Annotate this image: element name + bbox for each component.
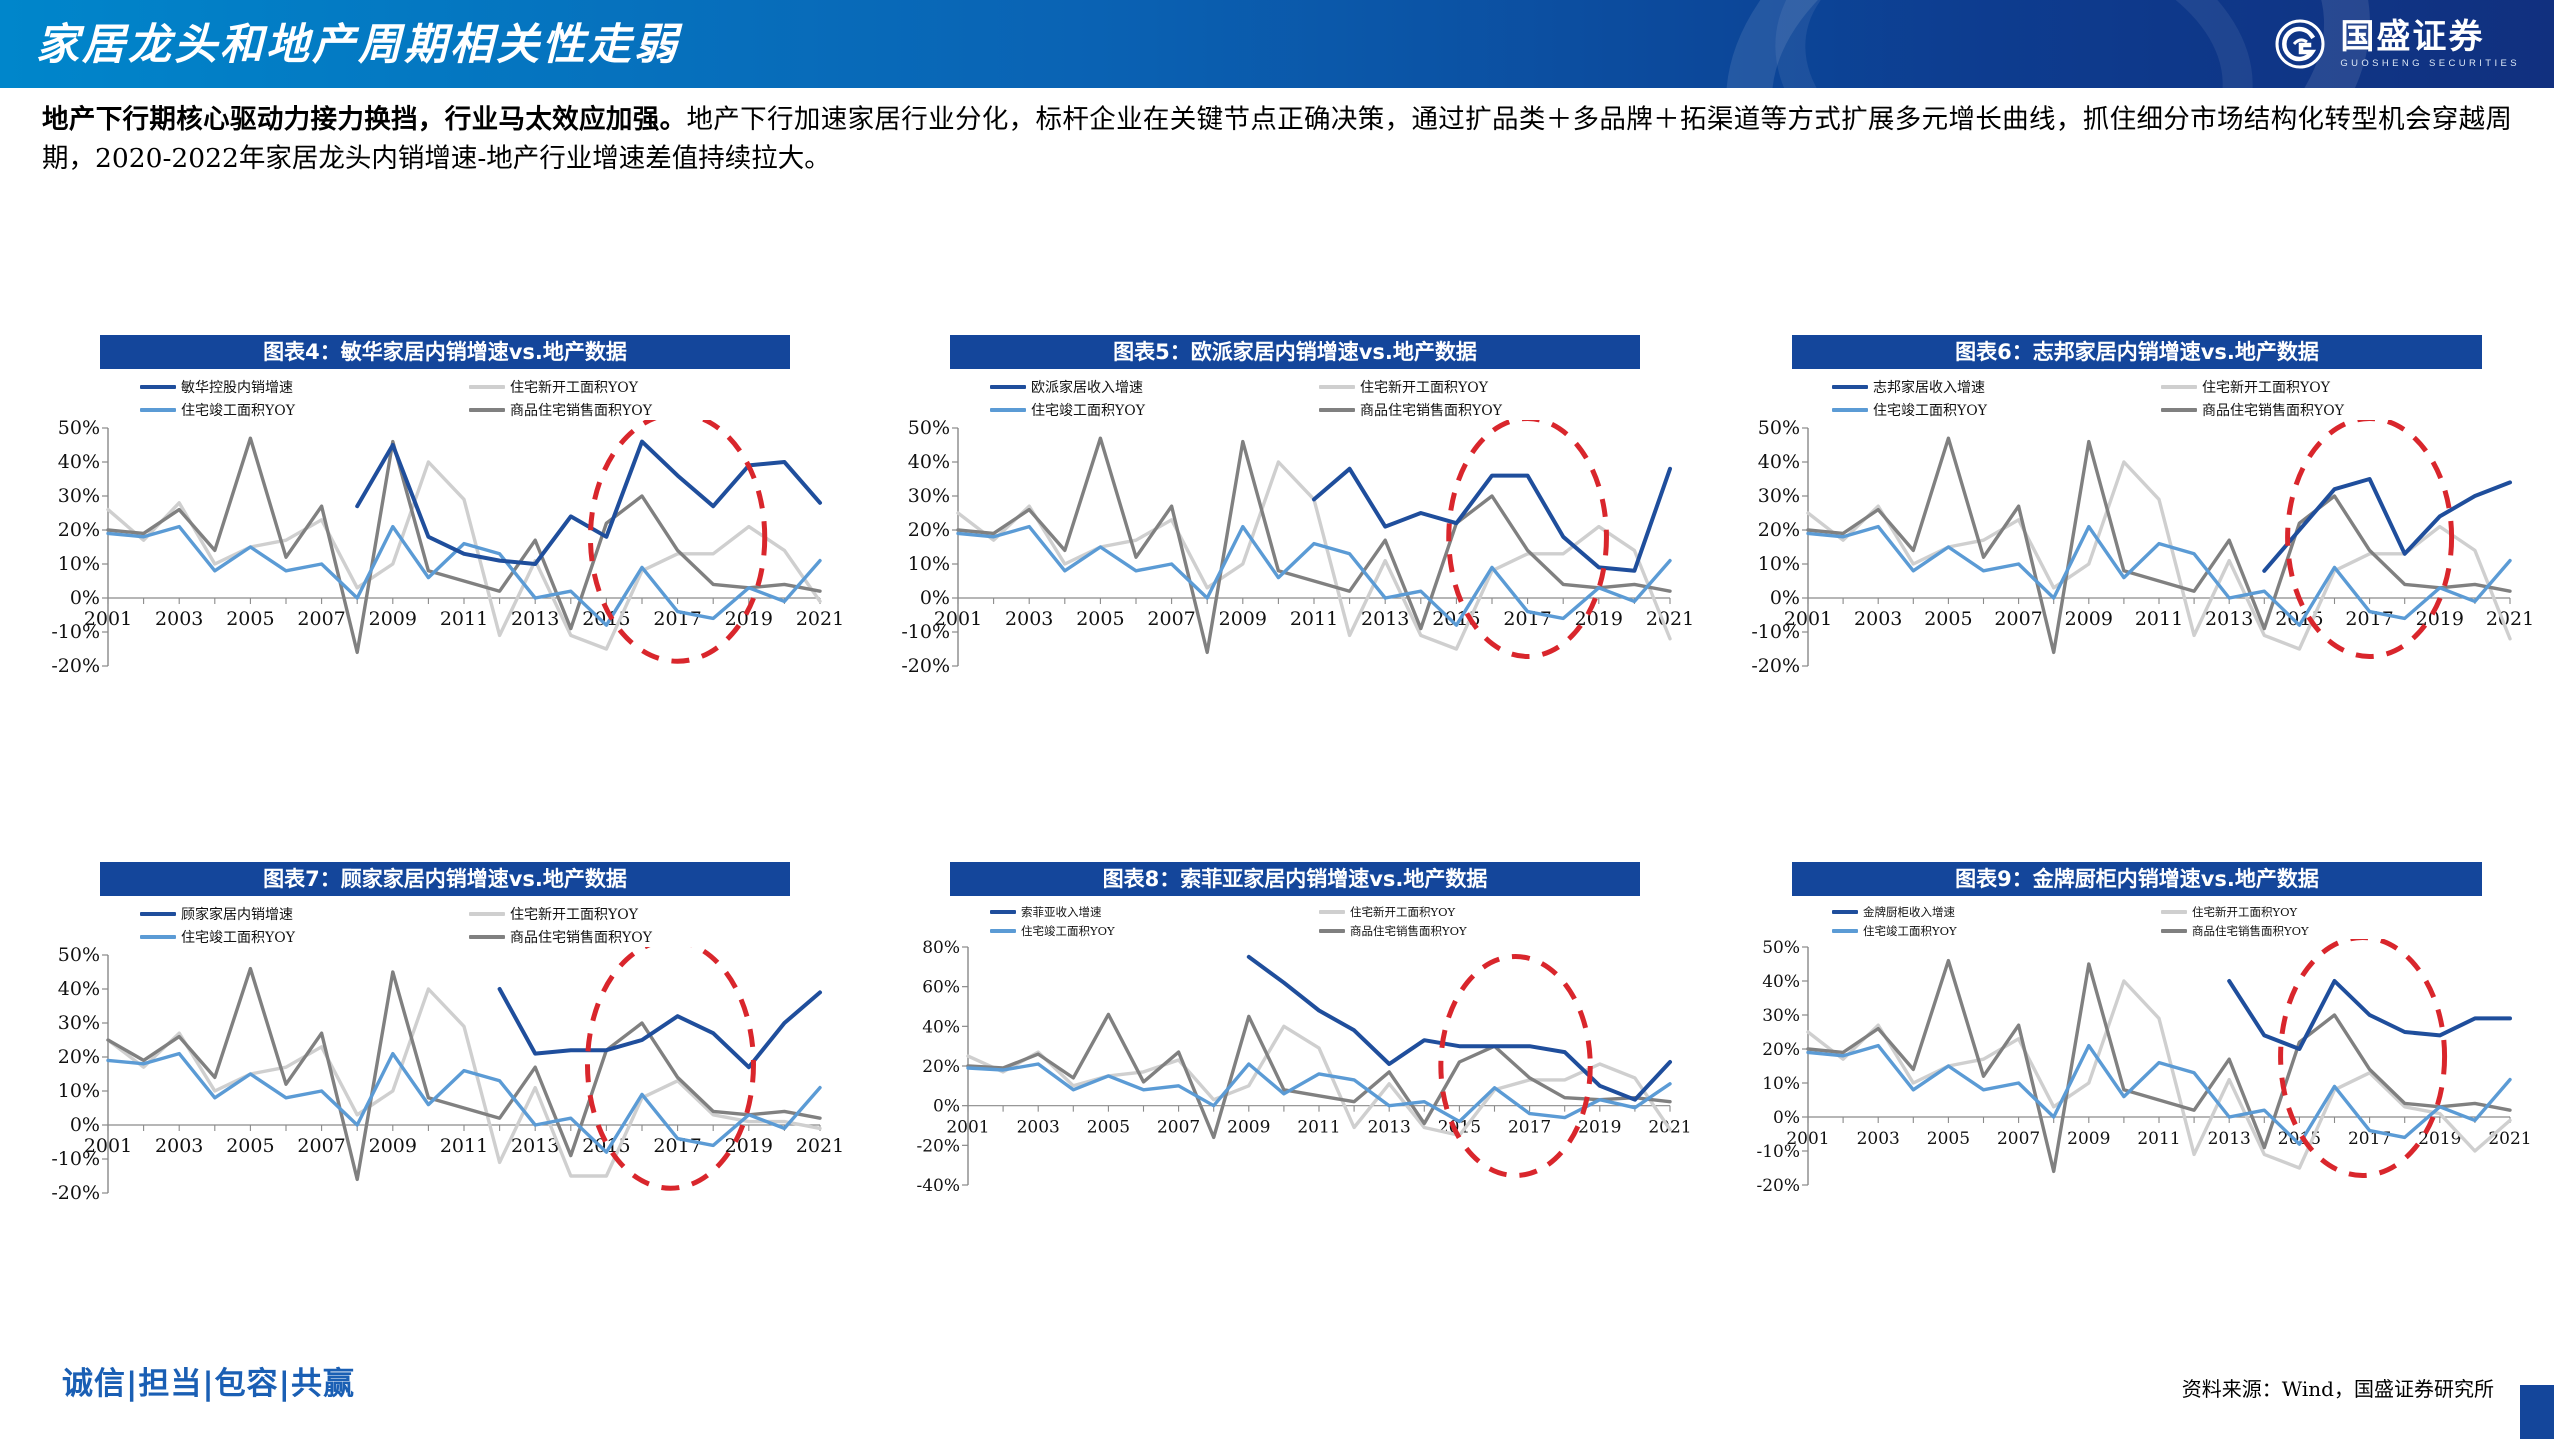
legend-label: 金牌厨柜收入增速 xyxy=(1863,904,1955,920)
plot-wrapper-chart8: -40%-20%0%20%40%60%80%200120032005200720… xyxy=(880,939,1700,1229)
legend-swatch-icon xyxy=(1319,408,1355,412)
legend-label: 敏华控股内销增速 xyxy=(181,377,293,397)
legend-label: 商品住宅销售面积YOY xyxy=(1360,400,1502,420)
legend-item-chart5-1: 住宅新开工面积YOY xyxy=(1319,377,1640,397)
y-tick-label: 30% xyxy=(58,1012,100,1034)
x-tick-label: 2009 xyxy=(1219,608,1267,630)
legend-swatch-icon xyxy=(140,385,176,389)
legend-label: 住宅新开工面积YOY xyxy=(1350,904,1455,920)
x-tick-label: 2003 xyxy=(1005,608,1053,630)
legend-swatch-icon xyxy=(140,408,176,412)
x-tick-label: 2021 xyxy=(796,1135,844,1157)
legend-swatch-icon xyxy=(469,935,505,939)
series-line-chart7-0 xyxy=(500,989,820,1067)
legend-label: 志邦家居收入增速 xyxy=(1873,377,1985,397)
corner-accent-tab xyxy=(2520,1385,2554,1439)
y-tick-label: 0% xyxy=(933,1097,960,1117)
x-tick-label: 2007 xyxy=(1147,608,1195,630)
legend-label: 顾家家居内销增速 xyxy=(181,904,293,924)
legend-swatch-icon xyxy=(1319,385,1355,389)
x-tick-label: 2005 xyxy=(1927,1129,1970,1149)
y-tick-label: 30% xyxy=(908,485,950,507)
legend-item-chart8-2: 住宅竣工面积YOY xyxy=(990,923,1311,939)
page-title: 家居龙头和地产周期相关性走弱 xyxy=(36,10,680,72)
chart-title-chart6: 图表6：志邦家居内销增速vs.地产数据 xyxy=(1792,335,2482,369)
legend-swatch-icon xyxy=(1832,385,1868,389)
x-tick-label: 2013 xyxy=(1361,608,1409,630)
legend-label: 商品住宅销售面积YOY xyxy=(510,927,652,947)
x-tick-label: 2021 xyxy=(1646,608,1694,630)
chart-legend-chart7: 顾家家居内销增速住宅新开工面积YOY住宅竣工面积YOY商品住宅销售面积YOY xyxy=(140,896,790,947)
x-tick-label: 2005 xyxy=(226,1135,274,1157)
legend-item-chart6-2: 住宅竣工面积YOY xyxy=(1832,400,2153,420)
x-tick-label: 2019 xyxy=(1578,1118,1621,1138)
x-tick-label: 2009 xyxy=(1227,1118,1270,1138)
legend-item-chart9-3: 商品住宅销售面积YOY xyxy=(2161,923,2482,939)
x-tick-label: 2007 xyxy=(297,608,345,630)
y-tick-label: 50% xyxy=(58,420,100,439)
y-tick-label: 20% xyxy=(922,1057,960,1077)
legend-swatch-icon xyxy=(1319,910,1345,914)
chart-plot-chart9: -20%-10%0%10%20%30%40%50%200120032005200… xyxy=(1730,939,2550,1229)
chart-card-chart7: 图表7：顾家家居内销增速vs.地产数据顾家家居内销增速住宅新开工面积YOY住宅竣… xyxy=(30,862,850,1237)
y-tick-label: 40% xyxy=(1762,972,1800,992)
y-tick-label: 10% xyxy=(1758,553,1800,575)
y-tick-label: 40% xyxy=(922,1017,960,1037)
y-tick-label: 20% xyxy=(58,1046,100,1068)
legend-item-chart9-2: 住宅竣工面积YOY xyxy=(1832,923,2153,939)
legend-item-chart6-1: 住宅新开工面积YOY xyxy=(2161,377,2482,397)
x-tick-label: 2003 xyxy=(1857,1129,1900,1149)
header-swoosh-decoration-2 xyxy=(1755,0,2273,88)
x-tick-label: 2011 xyxy=(440,1135,488,1157)
legend-item-chart4-0: 敏华控股内销增速 xyxy=(140,377,461,397)
legend-swatch-icon xyxy=(1832,910,1858,914)
legend-label: 商品住宅销售面积YOY xyxy=(510,400,652,420)
legend-label: 住宅竣工面积YOY xyxy=(1863,923,1957,939)
y-tick-label: 40% xyxy=(1758,451,1800,473)
y-tick-label: -20% xyxy=(51,1182,100,1204)
y-tick-label: 10% xyxy=(908,553,950,575)
x-tick-label: 2009 xyxy=(369,1135,417,1157)
chart-plot-chart8: -40%-20%0%20%40%60%80%200120032005200720… xyxy=(880,939,1710,1229)
legend-label: 住宅竣工面积YOY xyxy=(181,927,295,947)
legend-label: 商品住宅销售面积YOY xyxy=(1350,923,1467,939)
legend-item-chart4-3: 商品住宅销售面积YOY xyxy=(469,400,790,420)
legend-swatch-icon xyxy=(2161,385,2197,389)
legend-swatch-icon xyxy=(140,912,176,916)
legend-item-chart8-1: 住宅新开工面积YOY xyxy=(1319,904,1640,920)
legend-label: 住宅竣工面积YOY xyxy=(1021,923,1115,939)
plot-wrapper-chart4: -20%-10%0%10%20%30%40%50%200120032005200… xyxy=(30,420,850,710)
y-tick-label: 30% xyxy=(58,485,100,507)
y-tick-label: 30% xyxy=(1758,485,1800,507)
y-tick-label: -20% xyxy=(916,1136,960,1156)
chart-title-chart4: 图表4：敏华家居内销增速vs.地产数据 xyxy=(100,335,790,369)
legend-item-chart5-3: 商品住宅销售面积YOY xyxy=(1319,400,1640,420)
legend-label: 住宅竣工面积YOY xyxy=(1031,400,1145,420)
y-tick-label: 50% xyxy=(908,420,950,439)
legend-item-chart4-1: 住宅新开工面积YOY xyxy=(469,377,790,397)
chart-legend-chart4: 敏华控股内销增速住宅新开工面积YOY住宅竣工面积YOY商品住宅销售面积YOY xyxy=(140,369,790,420)
legend-swatch-icon xyxy=(140,935,176,939)
x-tick-label: 2001 xyxy=(1786,1129,1829,1149)
y-tick-label: 10% xyxy=(58,1080,100,1102)
x-tick-label: 2005 xyxy=(1924,608,1972,630)
chart-plot-chart4: -20%-10%0%10%20%30%40%50%200120032005200… xyxy=(30,420,860,710)
x-tick-label: 2009 xyxy=(2065,608,2113,630)
x-tick-label: 2021 xyxy=(2486,608,2534,630)
plot-wrapper-chart5: -20%-10%0%10%20%30%40%50%200120032005200… xyxy=(880,420,1700,710)
x-tick-label: 2013 xyxy=(2205,608,2253,630)
x-tick-label: 2001 xyxy=(84,1135,132,1157)
chart-plot-chart5: -20%-10%0%10%20%30%40%50%200120032005200… xyxy=(880,420,1710,710)
legend-item-chart9-0: 金牌厨柜收入增速 xyxy=(1832,904,2153,920)
y-tick-label: 20% xyxy=(1758,519,1800,541)
x-tick-label: 2011 xyxy=(1297,1118,1340,1138)
legend-item-chart4-2: 住宅竣工面积YOY xyxy=(140,400,461,420)
legend-item-chart9-1: 住宅新开工面积YOY xyxy=(2161,904,2482,920)
y-tick-label: -20% xyxy=(1756,1176,1800,1196)
y-tick-label: 50% xyxy=(58,947,100,966)
x-tick-label: 2007 xyxy=(1997,1129,2040,1149)
x-tick-label: 2003 xyxy=(155,608,203,630)
x-tick-label: 2021 xyxy=(796,608,844,630)
legend-label: 欧派家居收入增速 xyxy=(1031,377,1143,397)
legend-item-chart7-1: 住宅新开工面积YOY xyxy=(469,904,790,924)
legend-swatch-icon xyxy=(990,385,1026,389)
y-tick-label: -20% xyxy=(901,655,950,677)
footer-slogan: 诚信|担当|包容|共赢 xyxy=(62,1358,355,1403)
chart-legend-chart9: 金牌厨柜收入增速住宅新开工面积YOY住宅竣工面积YOY商品住宅销售面积YOY xyxy=(1832,896,2482,939)
x-tick-label: 2001 xyxy=(946,1118,989,1138)
y-tick-label: -40% xyxy=(916,1176,960,1196)
chart-card-chart5: 图表5：欧派家居内销增速vs.地产数据欧派家居收入增速住宅新开工面积YOY住宅竣… xyxy=(880,335,1700,710)
legend-swatch-icon xyxy=(990,408,1026,412)
y-tick-label: 0% xyxy=(70,1114,100,1136)
x-tick-label: 2011 xyxy=(2135,608,2183,630)
legend-label: 住宅竣工面积YOY xyxy=(1873,400,1987,420)
x-tick-label: 2017 xyxy=(1508,1118,1551,1138)
x-tick-label: 2013 xyxy=(2208,1129,2251,1149)
legend-item-chart5-2: 住宅竣工面积YOY xyxy=(990,400,1311,420)
y-tick-label: 20% xyxy=(58,519,100,541)
page-header: 家居龙头和地产周期相关性走弱 国盛证券 GUOSHENG SECURITIES xyxy=(0,0,2554,88)
x-tick-label: 2011 xyxy=(1290,608,1338,630)
intro-bold-lead: 地产下行期核心驱动力接力换挡，行业马太效应加强。 xyxy=(42,104,686,135)
chart-title-chart7: 图表7：顾家家居内销增速vs.地产数据 xyxy=(100,862,790,896)
x-tick-label: 2009 xyxy=(2067,1129,2110,1149)
brand-logo: 国盛证券 GUOSHENG SECURITIES xyxy=(2274,18,2520,70)
legend-swatch-icon xyxy=(990,910,1016,914)
series-line-chart8-2 xyxy=(968,1064,1670,1122)
legend-label: 商品住宅销售面积YOY xyxy=(2192,923,2309,939)
y-tick-label: 40% xyxy=(58,978,100,1000)
plot-wrapper-chart7: -20%-10%0%10%20%30%40%50%200120032005200… xyxy=(30,947,850,1237)
x-tick-label: 2005 xyxy=(1076,608,1124,630)
legend-swatch-icon xyxy=(1319,929,1345,933)
x-tick-label: 2003 xyxy=(155,1135,203,1157)
legend-item-chart6-0: 志邦家居收入增速 xyxy=(1832,377,2153,397)
chart-legend-chart6: 志邦家居收入增速住宅新开工面积YOY住宅竣工面积YOY商品住宅销售面积YOY xyxy=(1832,369,2482,420)
chart-card-chart8: 图表8：索菲亚家居内销增速vs.地产数据索菲亚收入增速住宅新开工面积YOY住宅竣… xyxy=(880,862,1700,1229)
source-note: 资料来源：Wind，国盛证券研究所 xyxy=(2182,1373,2494,1402)
x-tick-label: 2005 xyxy=(1087,1118,1130,1138)
x-tick-label: 2001 xyxy=(934,608,982,630)
y-tick-label: 0% xyxy=(1770,587,1800,609)
legend-swatch-icon xyxy=(469,408,505,412)
legend-label: 住宅新开工面积YOY xyxy=(510,377,638,397)
y-tick-label: 10% xyxy=(1762,1074,1800,1094)
x-tick-label: 2009 xyxy=(369,608,417,630)
legend-item-chart5-0: 欧派家居收入增速 xyxy=(990,377,1311,397)
legend-item-chart8-3: 商品住宅销售面积YOY xyxy=(1319,923,1640,939)
plot-wrapper-chart6: -20%-10%0%10%20%30%40%50%200120032005200… xyxy=(1730,420,2540,710)
legend-label: 住宅新开工面积YOY xyxy=(2202,377,2330,397)
series-line-chart9-0 xyxy=(2229,981,2510,1049)
chart-title-chart8: 图表8：索菲亚家居内销增速vs.地产数据 xyxy=(950,862,1640,896)
legend-item-chart6-3: 商品住宅销售面积YOY xyxy=(2161,400,2482,420)
guosheng-circle-g-logo-icon xyxy=(2274,18,2326,70)
y-tick-label: 0% xyxy=(1773,1108,1800,1128)
chart-title-chart5: 图表5：欧派家居内销增速vs.地产数据 xyxy=(950,335,1640,369)
x-tick-label: 2003 xyxy=(1017,1118,1060,1138)
legend-label: 住宅竣工面积YOY xyxy=(181,400,295,420)
y-tick-label: -20% xyxy=(1751,655,1800,677)
chart-plot-chart6: -20%-10%0%10%20%30%40%50%200120032005200… xyxy=(1730,420,2550,710)
x-tick-label: 2013 xyxy=(1368,1118,1411,1138)
legend-swatch-icon xyxy=(1832,929,1858,933)
chart-card-chart9: 图表9：金牌厨柜内销增速vs.地产数据金牌厨柜收入增速住宅新开工面积YOY住宅竣… xyxy=(1730,862,2540,1229)
y-tick-label: 20% xyxy=(908,519,950,541)
legend-item-chart7-2: 住宅竣工面积YOY xyxy=(140,927,461,947)
chart-plot-chart7: -20%-10%0%10%20%30%40%50%200120032005200… xyxy=(30,947,860,1237)
y-tick-label: 0% xyxy=(920,587,950,609)
y-tick-label: -20% xyxy=(51,655,100,677)
legend-swatch-icon xyxy=(2161,929,2187,933)
x-tick-label: 2019 xyxy=(725,1135,773,1157)
legend-swatch-icon xyxy=(2161,910,2187,914)
brand-name-en: GUOSHENG SECURITIES xyxy=(2340,59,2520,69)
x-tick-label: 2011 xyxy=(2137,1129,2180,1149)
y-tick-label: 40% xyxy=(58,451,100,473)
chart-legend-chart5: 欧派家居收入增速住宅新开工面积YOY住宅竣工面积YOY商品住宅销售面积YOY xyxy=(990,369,1640,420)
legend-swatch-icon xyxy=(469,912,505,916)
legend-label: 住宅新开工面积YOY xyxy=(510,904,638,924)
legend-item-chart7-3: 商品住宅销售面积YOY xyxy=(469,927,790,947)
series-line-chart5-0 xyxy=(1314,469,1670,571)
chart-card-chart6: 图表6：志邦家居内销增速vs.地产数据志邦家居收入增速住宅新开工面积YOY住宅竣… xyxy=(1730,335,2540,710)
legend-swatch-icon xyxy=(469,385,505,389)
x-tick-label: 2001 xyxy=(1784,608,1832,630)
x-tick-label: 2007 xyxy=(1157,1118,1200,1138)
y-tick-label: 80% xyxy=(922,939,960,958)
x-tick-label: 2013 xyxy=(511,608,559,630)
legend-swatch-icon xyxy=(1832,408,1868,412)
plot-wrapper-chart9: -20%-10%0%10%20%30%40%50%200120032005200… xyxy=(1730,939,2540,1229)
y-tick-label: 40% xyxy=(908,451,950,473)
x-tick-label: 2011 xyxy=(440,608,488,630)
legend-label: 索菲亚收入增速 xyxy=(1021,904,1102,920)
y-tick-label: 60% xyxy=(922,978,960,998)
legend-swatch-icon xyxy=(990,929,1016,933)
x-tick-label: 2005 xyxy=(226,608,274,630)
series-line-chart6-0 xyxy=(2264,479,2510,571)
legend-swatch-icon xyxy=(2161,408,2197,412)
x-tick-label: 2007 xyxy=(1994,608,2042,630)
legend-label: 住宅新开工面积YOY xyxy=(1360,377,1488,397)
intro-paragraph: 地产下行期核心驱动力接力换挡，行业马太效应加强。地产下行加速家居行业分化，标杆企… xyxy=(42,100,2512,178)
y-tick-label: 20% xyxy=(1762,1040,1800,1060)
legend-item-chart7-0: 顾家家居内销增速 xyxy=(140,904,461,924)
chart-card-chart4: 图表4：敏华家居内销增速vs.地产数据敏华控股内销增速住宅新开工面积YOY住宅竣… xyxy=(30,335,850,710)
chart-legend-chart8: 索菲亚收入增速住宅新开工面积YOY住宅竣工面积YOY商品住宅销售面积YOY xyxy=(990,896,1640,939)
legend-label: 住宅新开工面积YOY xyxy=(2192,904,2297,920)
x-tick-label: 2007 xyxy=(297,1135,345,1157)
legend-item-chart8-0: 索菲亚收入增速 xyxy=(990,904,1311,920)
x-tick-label: 2003 xyxy=(1854,608,1902,630)
brand-name-cn: 国盛证券 xyxy=(2340,20,2520,54)
x-tick-label: 2013 xyxy=(511,1135,559,1157)
chart-title-chart9: 图表9：金牌厨柜内销增速vs.地产数据 xyxy=(1792,862,2482,896)
x-tick-label: 2001 xyxy=(84,608,132,630)
y-tick-label: 10% xyxy=(58,553,100,575)
y-tick-label: 0% xyxy=(70,587,100,609)
y-tick-label: 50% xyxy=(1758,420,1800,439)
legend-label: 商品住宅销售面积YOY xyxy=(2202,400,2344,420)
y-tick-label: 30% xyxy=(1762,1006,1800,1026)
y-tick-label: 50% xyxy=(1762,939,1800,958)
